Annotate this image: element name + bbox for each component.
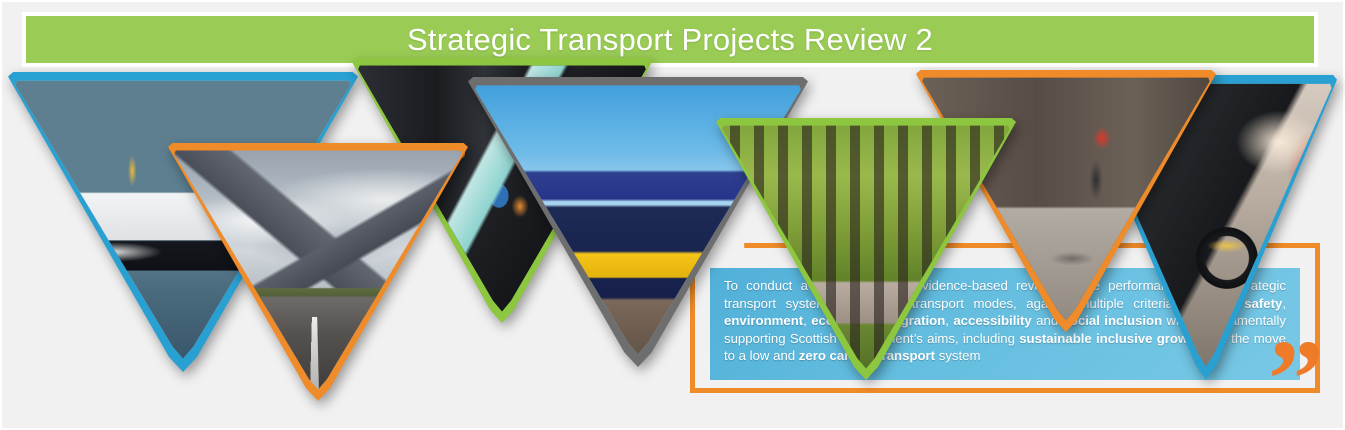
strategic-transport-banner: Strategic Transport Projects Review 2 “ … bbox=[0, 0, 1345, 430]
banner-title-bar: Strategic Transport Projects Review 2 bbox=[22, 12, 1318, 67]
collage-tile-viaduct bbox=[716, 118, 1016, 380]
photo-viaduct bbox=[716, 118, 1016, 380]
collage-tile-road bbox=[168, 143, 468, 401]
page-title: Strategic Transport Projects Review 2 bbox=[407, 22, 933, 58]
photo-highland-road bbox=[168, 143, 468, 401]
